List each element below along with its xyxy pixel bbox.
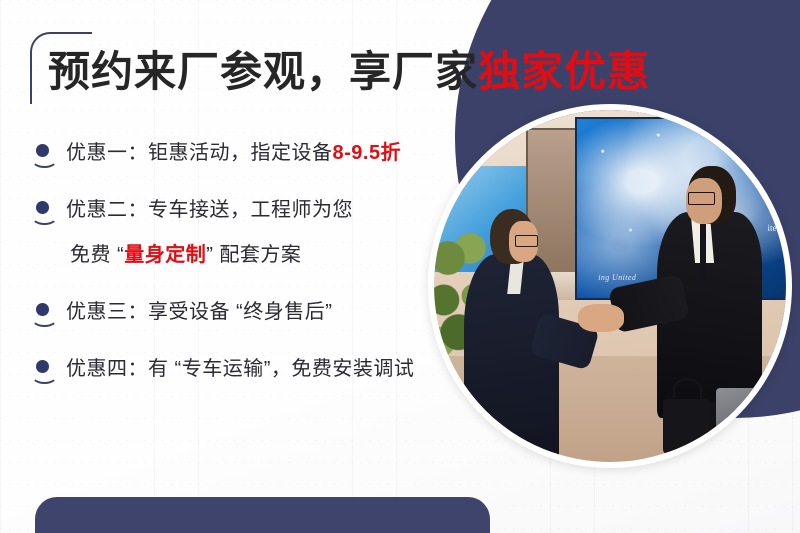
benefit-1-plain: 优惠一：钜惠活动，指定设备 xyxy=(66,142,333,164)
benefits-list: 优惠一：钜惠活动，指定设备8-9.5折 优惠二：专车接送，工程师为您 免费 “量… xyxy=(28,138,458,411)
promo-banner: ing United ited J xyxy=(0,0,800,533)
benefit-4-plain: 优惠四：有 “专车运输”，免费安装调试 xyxy=(66,358,414,380)
benefit-text-2: 优惠二：专车接送，工程师为您 xyxy=(66,195,458,226)
benefit-2b-plain-before: 免费 “ xyxy=(70,244,124,266)
bullet-dot-icon xyxy=(30,144,56,166)
bullet-dot-icon xyxy=(30,201,56,223)
photo-person-right-tie xyxy=(700,224,706,285)
benefit-text-3: 优惠三：享受设备 “终身售后” xyxy=(66,297,458,328)
photo-briefcase xyxy=(716,388,772,441)
photo-image: ing United ited J xyxy=(434,110,786,462)
benefit-text-1: 优惠一：钜惠活动，指定设备8-9.5折 xyxy=(66,138,458,169)
list-item: 优惠一：钜惠活动，指定设备8-9.5折 xyxy=(28,138,458,169)
photo-screen-caption: ing United xyxy=(598,273,636,282)
bullet-dot-icon xyxy=(30,303,56,325)
bullet-arc-shape xyxy=(31,309,58,327)
benefit-1-accent: 8-9.5折 xyxy=(333,142,402,164)
benefit-text-2-line2: 免费 “量身定制” 配套方案 xyxy=(66,240,458,271)
benefit-text-4: 优惠四：有 “专车运输”，免费安装调试 xyxy=(66,354,458,385)
benefit-2b-accent: 量身定制 xyxy=(124,244,206,266)
bullet-arc-shape xyxy=(31,207,58,225)
benefit-3-plain: 优惠三：享受设备 “终身售后” xyxy=(66,301,332,323)
photo-person-left-glasses xyxy=(515,235,538,247)
page-title-plain: 预约来厂参观，享厂家 xyxy=(48,48,478,95)
bottom-navy-bar xyxy=(35,497,490,533)
photo-circle: ing United ited J xyxy=(428,104,792,468)
list-item: 优惠三：享受设备 “终身售后” xyxy=(28,297,458,328)
page-title: 预约来厂参观，享厂家独家优惠 xyxy=(48,48,650,96)
photo-person-left xyxy=(462,209,568,462)
photo-handbag xyxy=(663,399,709,455)
page-title-accent: 独家优惠 xyxy=(478,48,650,95)
list-item: 优惠四：有 “专车运输”，免费安装调试 xyxy=(28,354,458,385)
benefit-2b-plain-after: ” 配套方案 xyxy=(206,244,301,266)
photo-handshake xyxy=(578,304,624,332)
list-item: 优惠二：专车接送，工程师为您 免费 “量身定制” 配套方案 xyxy=(28,195,458,271)
benefit-2-plain: 优惠二：专车接送，工程师为您 xyxy=(66,199,353,221)
bullet-arc-shape xyxy=(31,366,58,384)
photo-person-right-glasses xyxy=(688,192,715,205)
bullet-dot-icon xyxy=(30,360,56,382)
bullet-arc-shape xyxy=(31,150,58,168)
